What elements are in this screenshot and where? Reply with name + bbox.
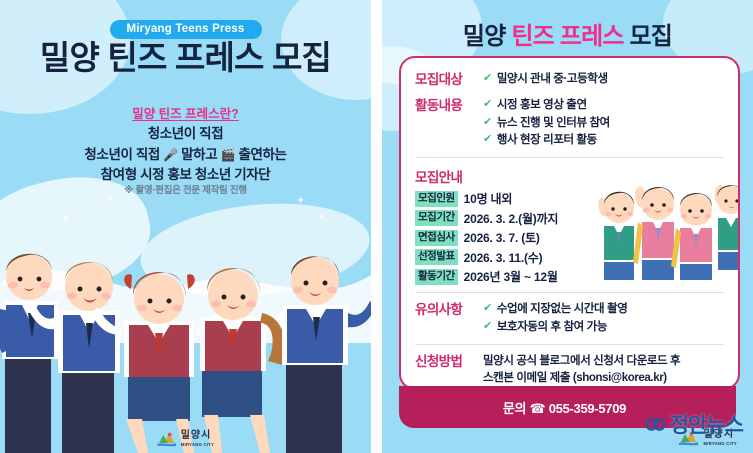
list-item: ✔ 뉴스 진행 및 인터뷰 참여 [483,115,724,131]
left-body-text: 청소년이 직접 청소년이 직접 🎤 말하고 🎬 출연하는 참여형 시정 홍보 청… [0,124,371,186]
section-label: 유의사항 [415,301,483,336]
check-icon: ✔ [483,132,492,148]
info-row: 모집인원 10명 내외 [415,190,724,207]
list-item-label: 뉴스 진행 및 인터뷰 참여 [497,115,610,131]
watermark-logo-icon [646,415,665,434]
section-apply-method: 신청방법 밀양시 공식 블로그에서 신청서 다운로드 후 스캔본 이메일 제출 … [415,353,724,386]
section-items: ✔ 시정 홍보 영상 출연 ✔ 뉴스 진행 및 인터뷰 참여 ✔ 행사 현장 리… [483,97,724,149]
section-items: 밀양시 공식 블로그에서 신청서 다운로드 후 스캔본 이메일 제출 (shon… [483,353,724,386]
title-part-1: 밀양 [463,23,506,50]
check-icon: ✔ [483,71,492,87]
check-icon: ✔ [483,319,492,335]
check-icon: ✔ [483,115,492,131]
section-recruit-info: 모집안내 모집인원 10명 내외 모집기간 2026. 3. 2.(월)까지 면… [415,166,724,285]
section-activities: 활동내용 ✔ 시정 홍보 영상 출연 ✔ 뉴스 진행 및 인터뷰 참여 ✔ 행사 [415,97,724,149]
divider-line [415,157,724,158]
program-badge: Miryang Teens Press [110,20,262,39]
watermark-text: 정안뉴스 [670,409,743,439]
left-footnote: ※ 촬영·편집은 전문 제작팀 진행 [0,182,371,196]
info-tag: 모집기간 [415,210,458,226]
info-row: 선정발표 2026. 3. 11.(수) [415,249,724,266]
apply-line-1: 밀양시 공식 블로그에서 신청서 다운로드 후 [483,353,724,370]
info-tag: 모집인원 [415,191,458,207]
contact-text: 문의 ☎ 055-359-5709 [503,398,626,417]
info-tag: 선정발표 [415,249,458,265]
list-item-label: 행사 현장 리포터 활동 [497,132,597,148]
panel-divider [371,0,382,453]
info-value: 2026. 3. 7. (토) [464,229,540,246]
clapperboard-icon: 🎬 [221,148,236,162]
miryang-logo-icon [157,432,176,447]
section-label: 모집안내 [415,166,724,186]
divider-line [415,344,724,345]
list-item-label: 밀양시 관내 중·고등학생 [497,71,608,87]
info-row: 활동기간 2026년 3월 ~ 12월 [415,268,724,285]
list-item-label: 시정 홍보 영상 출연 [497,97,587,113]
right-poster-panel: 밀양 틴즈 프레스 모집 [382,0,753,453]
list-item-label: 보호자동의 후 참여 가능 [497,319,607,335]
list-item: ✔ 보호자동의 후 참여 가능 [483,319,724,335]
right-main-title: 밀양 틴즈 프레스 모집 [382,16,753,51]
body-line-2: 청소년이 직접 🎤 말하고 🎬 출연하는 [0,145,371,166]
badge-row: Miryang Teens Press [0,19,371,39]
list-item: ✔ 행사 현장 리포터 활동 [483,132,724,148]
poster-image: ✦ ✦ ✦ ✦ Miryang Teens Press 밀양 틴즈 프레스 모집… [0,0,753,453]
left-main-title: 밀양 틴즈 프레스 모집 [0,40,371,77]
list-item: ✔ 수업에 지장없는 시간대 촬영 [483,301,724,317]
section-items: ✔ 수업에 지장없는 시간대 촬영 ✔ 보호자동의 후 참여 가능 [483,301,724,336]
info-value: 2026년 3월 ~ 12월 [464,268,558,285]
list-item-label: 수업에 지장없는 시간대 촬영 [497,301,628,317]
check-icon: ✔ [483,301,492,317]
info-row: 면접심사 2026. 3. 7. (토) [415,229,724,246]
section-label: 모집대상 [415,71,483,89]
body-line-1: 청소년이 직접 [0,124,371,145]
miryang-logo-kr: 밀양시 [181,431,215,441]
sparkle-icon: ✦ [106,196,114,205]
info-value: 10명 내외 [464,190,513,207]
body-line-2-a: 청소년이 직접 [84,147,159,162]
list-item: ✔ 밀양시 관내 중·고등학생 [483,71,724,87]
microphone-icon: 🎤 [163,148,178,162]
news-watermark: 정안뉴스 [646,409,743,439]
miryang-logo-en: MIRYANG CITY [703,442,737,446]
section-label: 신청방법 [415,353,483,386]
section-recruit-target: 모집대상 ✔ 밀양시 관내 중·고등학생 [415,71,724,89]
info-value: 2026. 3. 11.(수) [464,249,543,266]
info-tag: 면접심사 [415,230,458,246]
divider-line [415,292,724,293]
section-label: 활동내용 [415,97,483,149]
title-part-3: 모집 [630,23,673,50]
details-card: 모집대상 ✔ 밀양시 관내 중·고등학생 활동내용 ✔ 시정 홍보 [399,56,740,390]
students-illustration [0,213,371,453]
miryang-logo-text: 밀양시 MIRYANG CITY [181,431,215,447]
info-value: 2026. 3. 2.(월)까지 [464,210,559,227]
left-sub-question: 밀양 틴즈 프레스란? [0,103,371,122]
body-line-3-b: 청소년 기자단 [195,167,270,182]
info-row: 모집기간 2026. 3. 2.(월)까지 [415,210,724,227]
sparkle-icon: ✦ [296,196,305,207]
section-notice: 유의사항 ✔ 수업에 지장없는 시간대 촬영 ✔ 보호자동의 후 참여 가능 [415,301,724,336]
body-line-3-a: 참여형 시정 홍보 [101,167,192,182]
title-part-2: 틴즈 프레스 [511,23,623,50]
left-poster-panel: ✦ ✦ ✦ ✦ Miryang Teens Press 밀양 틴즈 프레스 모집… [0,0,371,453]
info-tag: 활동기간 [415,269,458,285]
list-item: ✔ 시정 홍보 영상 출연 [483,97,724,113]
miryang-city-logo-left: 밀양시 MIRYANG CITY [157,431,215,447]
section-items: ✔ 밀양시 관내 중·고등학생 [483,71,724,89]
check-icon: ✔ [483,97,492,113]
body-line-2-c: 출연하는 [238,147,286,162]
miryang-logo-en: MIRYANG CITY [181,443,215,447]
apply-line-2: 스캔본 이메일 제출 (shonsi@korea.kr) [483,370,724,387]
body-line-2-b: 말하고 [181,147,217,162]
